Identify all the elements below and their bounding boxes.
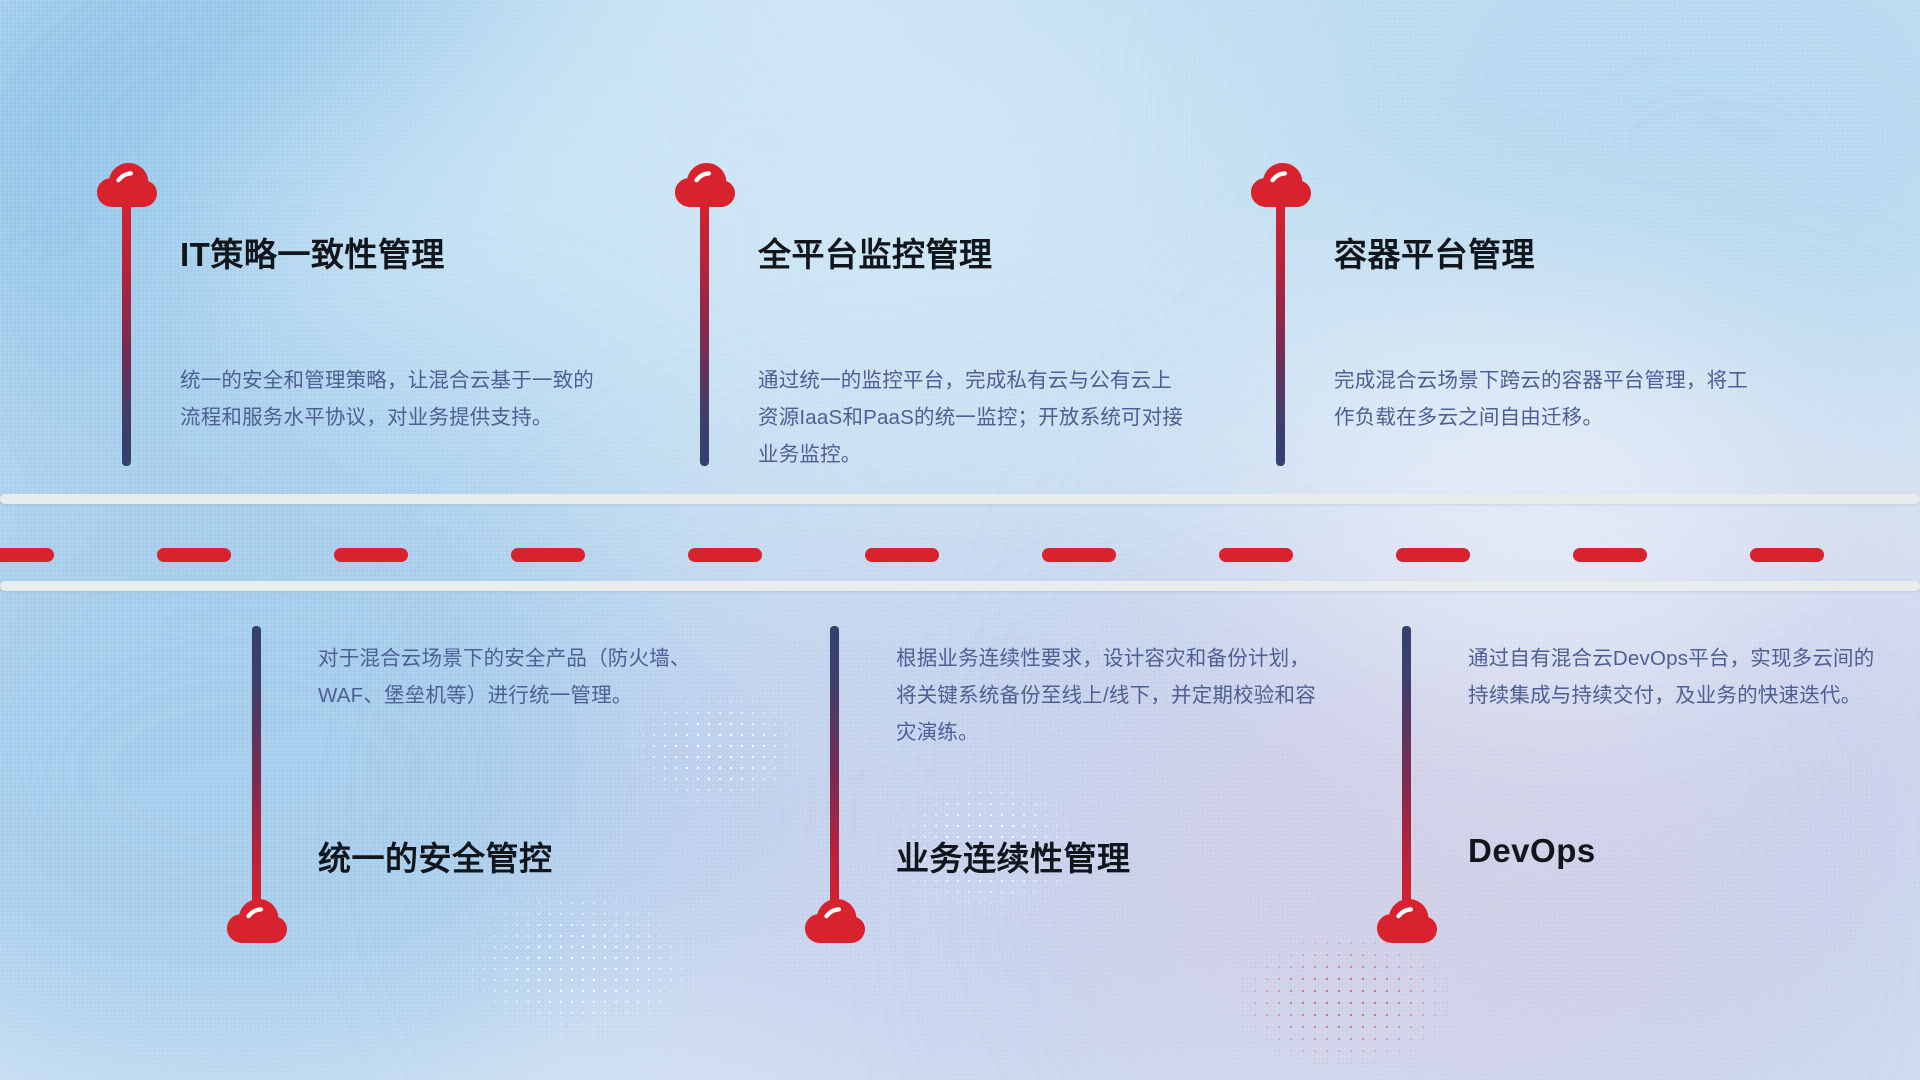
divider-rail-top bbox=[0, 494, 1920, 504]
connector-bar bbox=[122, 196, 131, 466]
node-body: 对于混合云场景下的安全产品（防火墙、WAF、堡垒机等）进行统一管理。 bbox=[318, 640, 738, 714]
divider-dash bbox=[1750, 548, 1824, 562]
node-body: 通过自有混合云DevOps平台，实现多云间的持续集成与持续交付，及业务的快速迭代… bbox=[1468, 640, 1888, 714]
divider-dash bbox=[688, 548, 762, 562]
connector-bar bbox=[1276, 196, 1285, 466]
node-title: IT策略一致性管理 bbox=[180, 228, 445, 276]
cloud-icon bbox=[1376, 898, 1438, 944]
divider-dash bbox=[865, 548, 939, 562]
divider-dash bbox=[511, 548, 585, 562]
cloud-icon bbox=[804, 898, 866, 944]
node-title: 业务连续性管理 bbox=[896, 832, 1131, 880]
node-title: 统一的安全管控 bbox=[318, 832, 553, 880]
connector-bar bbox=[252, 626, 261, 916]
node-body: 通过统一的监控平台，完成私有云与公有云上资源IaaS和PaaS的统一监控；开放系… bbox=[758, 362, 1190, 473]
divider-dash bbox=[0, 548, 54, 562]
divider-dash bbox=[1042, 548, 1116, 562]
connector-bar bbox=[700, 196, 709, 466]
divider-dashed-centerline bbox=[0, 548, 1920, 562]
divider-dash bbox=[1219, 548, 1293, 562]
divider-dash bbox=[1396, 548, 1470, 562]
divider-dash bbox=[157, 548, 231, 562]
node-title: DevOps bbox=[1468, 832, 1596, 870]
divider-dash bbox=[334, 548, 408, 562]
cloud-icon bbox=[226, 898, 288, 944]
divider-dash bbox=[1573, 548, 1647, 562]
node-title: 容器平台管理 bbox=[1334, 228, 1535, 276]
connector-bar bbox=[830, 626, 839, 916]
connector-bar bbox=[1402, 626, 1411, 916]
node-body: 根据业务连续性要求，设计容灾和备份计划，将关键系统备份至线上/线下，并定期校验和… bbox=[896, 640, 1316, 751]
node-body: 完成混合云场景下跨云的容器平台管理，将工作负载在多云之间自由迁移。 bbox=[1334, 362, 1766, 436]
node-title: 全平台监控管理 bbox=[758, 228, 993, 276]
infographic: IT策略一致性管理 统一的安全和管理策略，让混合云基于一致的流程和服务水平协议，… bbox=[0, 0, 1920, 1080]
node-body: 统一的安全和管理策略，让混合云基于一致的流程和服务水平协议，对业务提供支持。 bbox=[180, 362, 612, 436]
divider-rail-bottom bbox=[0, 581, 1920, 591]
